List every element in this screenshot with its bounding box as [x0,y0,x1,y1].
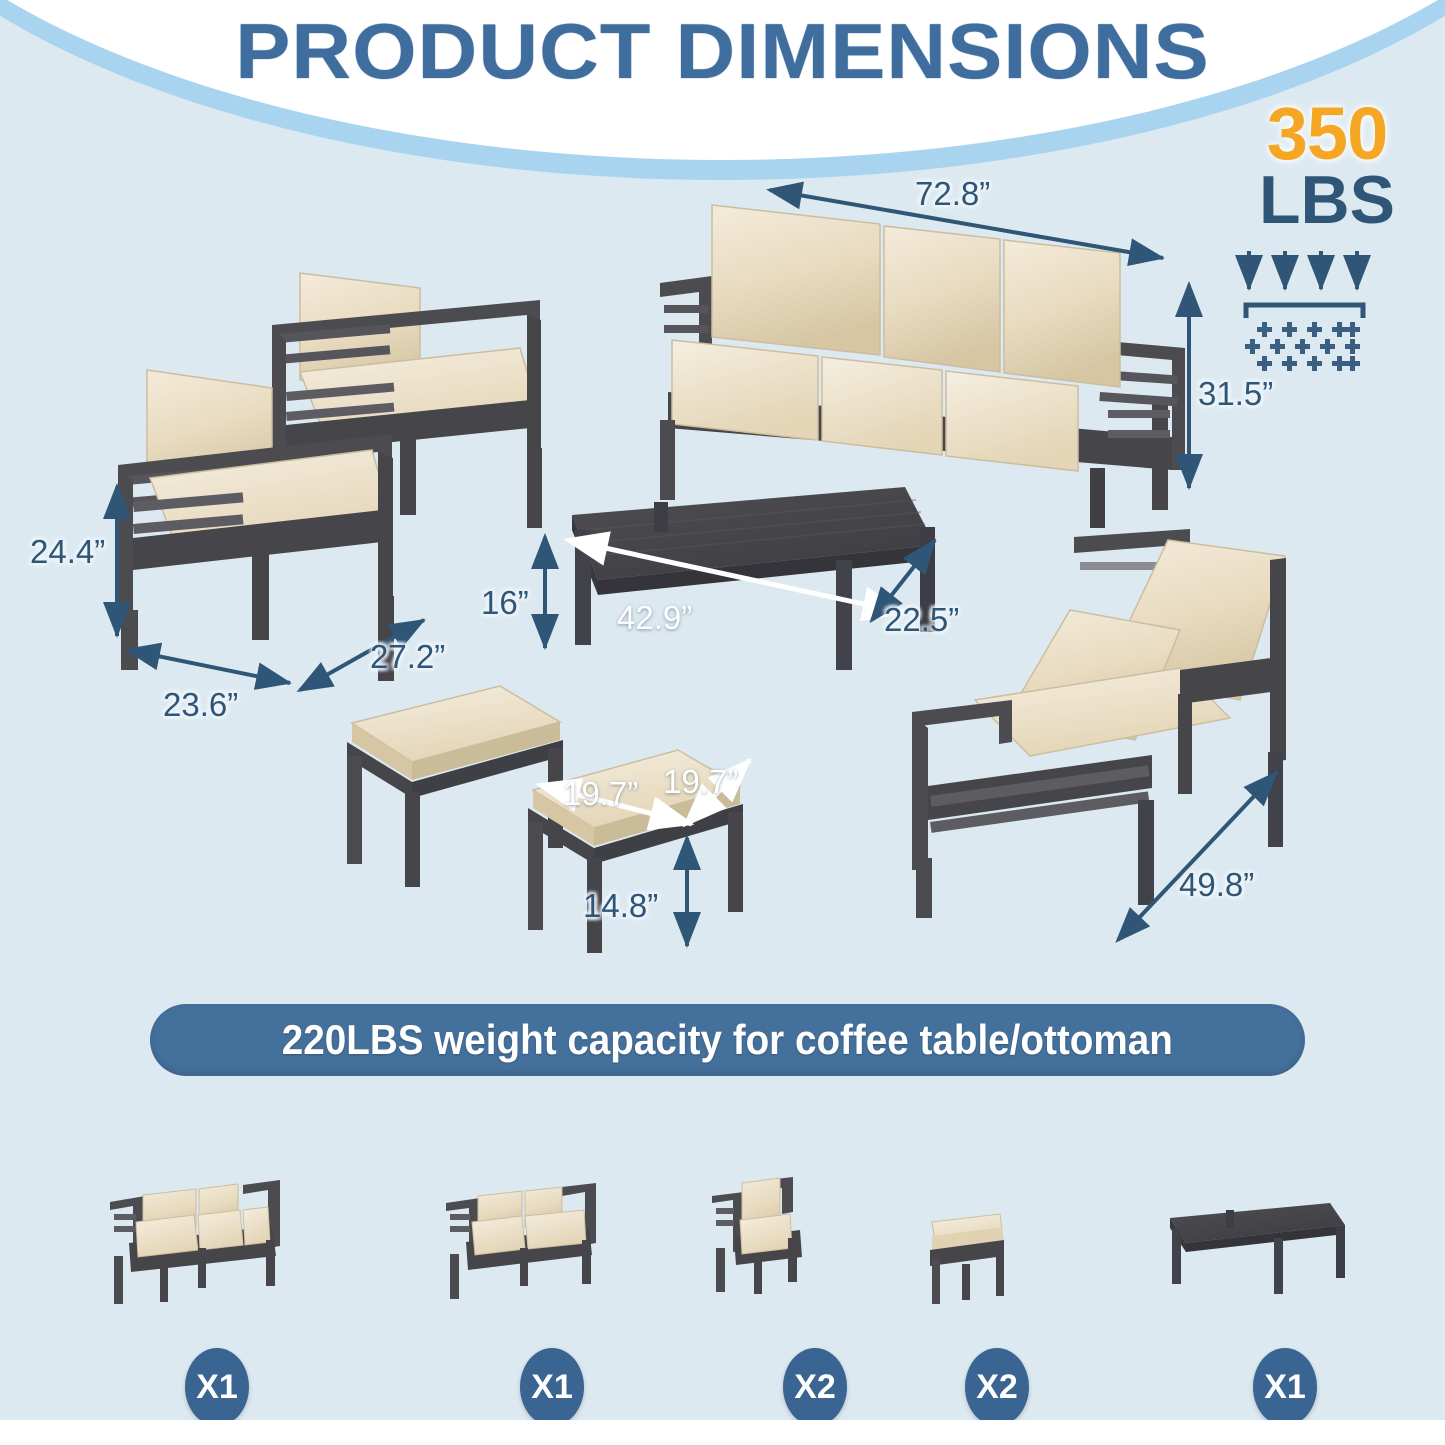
qty-badge-armchair: X2 [783,1348,847,1426]
dimension-label-chair-depth: 27.2” [370,638,445,676]
armchair-front-illustration [118,370,394,681]
lineup-ottoman-illustration [930,1214,1004,1304]
dimension-label-ottoman-width: 19.7” [563,775,638,813]
weight-plus-pattern [1245,322,1360,371]
weight-capacity-banner: 220LBS weight capacity for coffee table/… [150,1004,1305,1076]
lineup-armchair-illustration [712,1177,802,1294]
max-weight-capacity-badge: 350 LBS [1232,100,1422,234]
dimension-label-table-length: 42.9” [617,599,692,637]
lineup-sofa-illustration [110,1180,280,1304]
qty-badge-coffee-table: X1 [1253,1348,1317,1426]
dimension-label-sofa-width: 72.8” [915,175,990,213]
ottoman-rear-illustration [347,686,563,887]
armchair-rear-illustration [272,273,542,528]
dimension-line-chair-width [128,650,290,683]
lineup-coffee-table-illustration [1170,1203,1345,1294]
lineup-loveseat-illustration [446,1183,596,1299]
dimension-line-loveseat-depth [1118,772,1277,940]
sofa-illustration [660,205,1185,528]
weight-unit: LBS [1232,166,1422,234]
dimension-label-table-height: 16” [481,584,529,622]
dimension-label-table-width: 22.5” [884,601,959,639]
weight-bracket-icon [1246,305,1363,318]
dimension-label-chair-width: 23.6” [163,686,238,724]
weight-arrows-group [1249,251,1357,289]
loveseat-illustration [912,529,1286,918]
dimension-label-ottoman-height: 14.8” [583,887,658,925]
qty-badge-sofa: X1 [185,1348,249,1426]
weight-capacity-banner-text: 220LBS weight capacity for coffee table/… [282,1016,1173,1064]
page-title: PRODUCT DIMENSIONS [0,6,1445,97]
qty-badge-loveseat: X1 [520,1348,584,1426]
dimension-label-chair-height: 24.4” [30,533,105,571]
dimension-label-loveseat-depth: 49.8” [1179,866,1254,904]
dimension-label-sofa-height: 31.5” [1198,375,1273,413]
qty-badge-ottoman: X2 [965,1348,1029,1426]
coffee-table-illustration [572,487,935,670]
dimension-label-ottoman-depth: 19.7” [663,763,738,801]
bottom-white-strip [0,1420,1445,1445]
infographic-canvas: PRODUCT DIMENSIONS 350 LBS [0,0,1445,1445]
weight-number: 350 [1232,100,1422,168]
